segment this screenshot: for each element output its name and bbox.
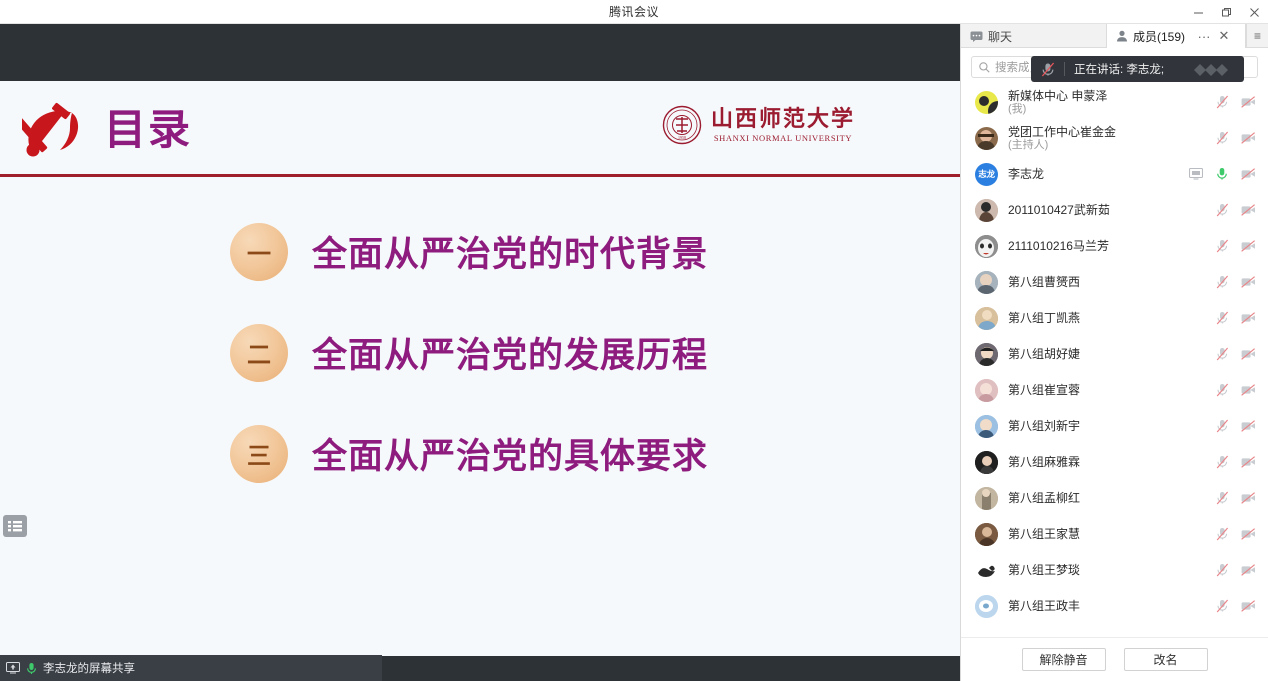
person-icon [1116, 30, 1128, 42]
avatar: 志龙 [975, 163, 998, 186]
toc-item: 二 全面从严治党的发展历程 [0, 302, 960, 403]
member-name-block: 第八组王家慧 [1008, 527, 1080, 541]
mic-muted-icon[interactable] [1214, 527, 1230, 541]
toc-bullet-2: 二 [230, 324, 288, 382]
member-name: 第八组王政丰 [1008, 599, 1080, 613]
university-name-cn: 山西师范大学 [711, 107, 855, 131]
camera-off-icon[interactable] [1240, 419, 1256, 433]
share-status-text: 李志龙的屏幕共享 [43, 660, 135, 676]
more-options-icon[interactable]: ··· [1194, 24, 1214, 48]
microphone-icon [26, 662, 37, 675]
avatar [975, 271, 998, 294]
member-name: 第八组麻雅霖 [1008, 455, 1080, 469]
member-status-icons [1214, 203, 1256, 217]
tab-members[interactable]: 成员(159) ··· ✕ [1107, 24, 1246, 48]
avatar [975, 415, 998, 438]
member-name: 2011010427武新茹 [1008, 203, 1110, 217]
search-icon [979, 62, 990, 73]
member-name-block: 第八组王政丰 [1008, 599, 1080, 613]
window-controls [1184, 0, 1268, 24]
avatar [975, 235, 998, 258]
panel-tabbar: 聊天 成员(159) ··· ✕ ≡ [961, 24, 1268, 48]
avatar [975, 451, 998, 474]
member-tag: (我) [1008, 103, 1107, 116]
screen-share-status-bar: 李志龙的屏幕共享 [0, 655, 382, 681]
minimize-icon[interactable] [1184, 0, 1212, 24]
restore-icon[interactable] [1212, 0, 1240, 24]
avatar [975, 559, 998, 582]
camera-off-icon[interactable] [1240, 131, 1256, 145]
member-status-icons [1214, 419, 1256, 433]
member-name: 第八组丁凯燕 [1008, 311, 1080, 325]
screen-share-icon [6, 662, 20, 674]
member-status-icons [1214, 455, 1256, 469]
camera-off-icon[interactable] [1240, 527, 1256, 541]
toc-item: 一 全面从严治党的时代背景 [0, 201, 960, 302]
toc-label-1: 全面从严治党的时代背景 [312, 226, 708, 277]
avatar [975, 307, 998, 330]
mic-muted-icon[interactable] [1214, 455, 1230, 469]
camera-off-icon[interactable] [1240, 491, 1256, 505]
shared-screen-stage: 目录 1958 山西师范大学 SHANXI NORMAL UNIVERSITY [0, 24, 960, 681]
member-name: 第八组胡好婕 [1008, 347, 1080, 361]
university-seal-icon: 1958 [662, 105, 702, 145]
list-item[interactable]: 第八组麻雅霖 [961, 444, 1268, 480]
avatar [975, 91, 998, 114]
panel-close-icon[interactable]: ✕ [1214, 24, 1234, 48]
avatar [975, 379, 998, 402]
toc-item: 三 全面从严治党的具体要求 [0, 403, 960, 504]
mic-muted-icon[interactable] [1214, 419, 1230, 433]
member-status-icons [1214, 275, 1256, 289]
avatar [975, 487, 998, 510]
member-name-block: 第八组胡好婕 [1008, 347, 1080, 361]
member-name-block: 2011010427武新茹 [1008, 203, 1110, 217]
presentation-slide: 目录 1958 山西师范大学 SHANXI NORMAL UNIVERSITY [0, 81, 960, 656]
window-title: 腾讯会议 [609, 3, 659, 20]
avatar [975, 343, 998, 366]
member-status-icons [1188, 167, 1256, 181]
mic-muted-icon [1041, 62, 1055, 77]
mic-muted-icon[interactable] [1214, 563, 1230, 577]
member-name-block: 第八组孟柳红 [1008, 491, 1080, 505]
speaking-text: 正在讲话: 李志龙; [1074, 61, 1164, 77]
member-name: 第八组崔宣蓉 [1008, 383, 1080, 397]
camera-off-icon[interactable] [1240, 95, 1256, 109]
list-item[interactable]: 第八组王政丰 [961, 588, 1268, 624]
list-item[interactable]: 第八组曹赟西 [961, 264, 1268, 300]
rename-button[interactable]: 改名 [1124, 648, 1208, 671]
member-status-icons [1214, 563, 1256, 577]
speaking-tooltip: 正在讲话: 李志龙; [1031, 56, 1244, 82]
list-item[interactable]: 2111010216马兰芳 [961, 228, 1268, 264]
member-status-icons [1214, 311, 1256, 325]
university-logo: 1958 山西师范大学 SHANXI NORMAL UNIVERSITY [662, 105, 855, 145]
panel-tab-actions: ··· ✕ [1194, 24, 1236, 48]
member-status-icons [1214, 491, 1256, 505]
member-name-block: 第八组刘新宇 [1008, 419, 1080, 433]
toc-bullet-3: 三 [230, 425, 288, 483]
list-item[interactable]: 第八组崔宣蓉 [961, 372, 1268, 408]
camera-off-icon[interactable] [1240, 347, 1256, 361]
member-name: 第八组曹赟西 [1008, 275, 1080, 289]
avatar [975, 595, 998, 618]
member-name: 党团工作中心崔金金 [1008, 125, 1116, 139]
university-name-en: SHANXI NORMAL UNIVERSITY [714, 133, 852, 143]
member-name-block: 第八组崔宣蓉 [1008, 383, 1080, 397]
toc-label-2: 全面从严治党的发展历程 [312, 327, 708, 378]
avatar-initials: 志龙 [978, 168, 994, 180]
mic-muted-icon[interactable] [1214, 239, 1230, 253]
member-name: 第八组王梦琰 [1008, 563, 1080, 577]
list-item[interactable]: 第八组胡好婕 [961, 336, 1268, 372]
camera-off-icon[interactable] [1240, 311, 1256, 325]
tooltip-divider [1064, 62, 1065, 76]
slide-header-rule [0, 174, 960, 177]
tencent-meeting-window: 腾讯会议 [0, 0, 1268, 681]
panel-footer: 解除静音 改名 [961, 637, 1268, 681]
list-item[interactable]: 第八组王家慧 [961, 516, 1268, 552]
sound-wave-icon [1192, 61, 1234, 77]
member-name-block: 第八组麻雅霖 [1008, 455, 1080, 469]
camera-off-icon[interactable] [1240, 203, 1256, 217]
slide-toc-list: 一 全面从严治党的时代背景 二 全面从严治党的发展历程 三 全面从严治党的具体要… [0, 201, 960, 504]
member-list[interactable]: 新媒体中心 申蒙泽 (我) 党团工作中心崔金金 [961, 84, 1268, 637]
university-name-block: 山西师范大学 SHANXI NORMAL UNIVERSITY [711, 107, 855, 143]
list-item[interactable]: 志龙 李志龙 [961, 156, 1268, 192]
member-search-area: 搜索成员 正在讲话: 李志龙; [961, 48, 1268, 84]
window-titlebar: 腾讯会议 [0, 0, 1268, 24]
member-name-block: 第八组曹赟西 [1008, 275, 1080, 289]
mic-muted-icon[interactable] [1214, 203, 1230, 217]
member-name-block: 党团工作中心崔金金 (主持人) [1008, 125, 1116, 152]
mic-muted-icon[interactable] [1214, 383, 1230, 397]
member-name: 第八组孟柳红 [1008, 491, 1080, 505]
list-item[interactable]: 第八组王梦琰 [961, 552, 1268, 588]
member-name: 2111010216马兰芳 [1008, 239, 1109, 253]
camera-off-icon[interactable] [1240, 455, 1256, 469]
screen-share-icon[interactable] [1188, 167, 1204, 181]
mic-muted-icon[interactable] [1214, 95, 1230, 109]
toc-label-3: 全面从严治党的具体要求 [312, 428, 708, 479]
member-name: 第八组刘新宇 [1008, 419, 1080, 433]
member-name-block: 第八组丁凯燕 [1008, 311, 1080, 325]
panel-hamburger-icon[interactable]: ≡ [1246, 24, 1268, 47]
list-item[interactable]: 第八组丁凯燕 [961, 300, 1268, 336]
mic-muted-icon[interactable] [1214, 275, 1230, 289]
member-name: 李志龙 [1008, 167, 1044, 181]
member-status-icons [1214, 383, 1256, 397]
member-status-icons [1214, 347, 1256, 361]
svg-text:1958: 1958 [678, 135, 686, 140]
mic-muted-icon[interactable] [1214, 599, 1230, 613]
camera-off-icon[interactable] [1240, 239, 1256, 253]
member-status-icons [1214, 131, 1256, 145]
mic-muted-icon[interactable] [1214, 491, 1230, 505]
list-menu-icon[interactable] [3, 515, 27, 537]
member-tag: (主持人) [1008, 139, 1116, 152]
avatar [975, 523, 998, 546]
member-name: 新媒体中心 申蒙泽 [1008, 89, 1107, 103]
mic-muted-icon[interactable] [1214, 347, 1230, 361]
camera-off-icon[interactable] [1240, 275, 1256, 289]
close-icon[interactable] [1240, 0, 1268, 24]
member-name: 第八组王家慧 [1008, 527, 1080, 541]
toc-bullet-1: 一 [230, 223, 288, 281]
member-status-icons [1214, 599, 1256, 613]
cpc-hammer-sickle-emblem [22, 101, 84, 159]
list-item[interactable]: 第八组孟柳红 [961, 480, 1268, 516]
mic-muted-icon[interactable] [1214, 131, 1230, 145]
mic-muted-icon[interactable] [1214, 311, 1230, 325]
chat-bubble-icon [970, 31, 983, 42]
avatar [975, 127, 998, 150]
avatar [975, 199, 998, 222]
member-status-icons [1214, 239, 1256, 253]
member-status-icons [1214, 95, 1256, 109]
right-side-panel: 聊天 成员(159) ··· ✕ ≡ 搜索 [960, 24, 1268, 681]
member-name-block: 新媒体中心 申蒙泽 (我) [1008, 89, 1107, 116]
member-name-block: 2111010216马兰芳 [1008, 239, 1109, 253]
camera-off-icon[interactable] [1240, 563, 1256, 577]
member-status-icons [1214, 527, 1256, 541]
list-item[interactable]: 党团工作中心崔金金 (主持人) [961, 120, 1268, 156]
slide-title: 目录 [104, 103, 192, 157]
mic-active-icon[interactable] [1214, 167, 1230, 181]
tab-chat[interactable]: 聊天 [961, 24, 1107, 48]
member-name-block: 第八组王梦琰 [1008, 563, 1080, 577]
unmute-button[interactable]: 解除静音 [1022, 648, 1106, 671]
member-name-block: 李志龙 [1008, 167, 1044, 181]
list-item[interactable]: 2011010427武新茹 [961, 192, 1268, 228]
camera-off-icon[interactable] [1240, 383, 1256, 397]
list-item[interactable]: 第八组刘新宇 [961, 408, 1268, 444]
tab-members-label: 成员(159) [1133, 28, 1185, 45]
camera-off-icon[interactable] [1240, 599, 1256, 613]
slide-header: 目录 1958 山西师范大学 SHANXI NORMAL UNIVERSITY [0, 81, 960, 176]
tab-chat-label: 聊天 [988, 28, 1012, 45]
list-item[interactable]: 新媒体中心 申蒙泽 (我) [961, 84, 1268, 120]
camera-off-icon[interactable] [1240, 167, 1256, 181]
